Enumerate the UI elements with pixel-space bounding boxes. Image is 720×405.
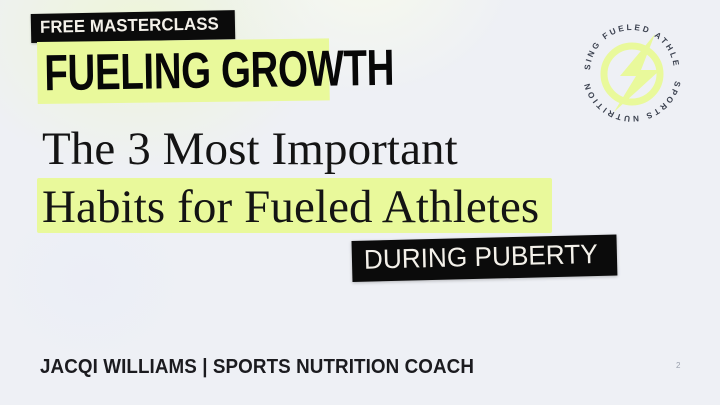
- title-block-text: FUELING GROWTH: [44, 40, 471, 94]
- headline-line-1: The 3 Most Important: [42, 122, 458, 177]
- presenter-byline: JACQI WILLIAMS | SPORTS NUTRITION COACH: [40, 357, 474, 377]
- brand-logo: RAISING FUELED ATHLETES SPORTS NUTRITION: [572, 12, 692, 132]
- headline-line-2: Habits for Fueled Athletes: [42, 180, 539, 235]
- eyebrow-badge: FREE MASTERCLASS: [31, 10, 236, 42]
- page-number: 2: [676, 362, 680, 370]
- presentation-slide: FREE MASTERCLASS FUELING GROWTH The 3 Mo…: [0, 0, 720, 405]
- logo-ring-text-top: RAISING FUELED ATHLETES: [572, 12, 681, 71]
- masterclass-title: FUELING GROWTH: [44, 42, 394, 98]
- kicker-label: DURING PUBERTY: [364, 241, 598, 274]
- eyebrow-label: FREE MASTERCLASS: [40, 15, 219, 36]
- kicker-badge: DURING PUBERTY: [351, 235, 617, 282]
